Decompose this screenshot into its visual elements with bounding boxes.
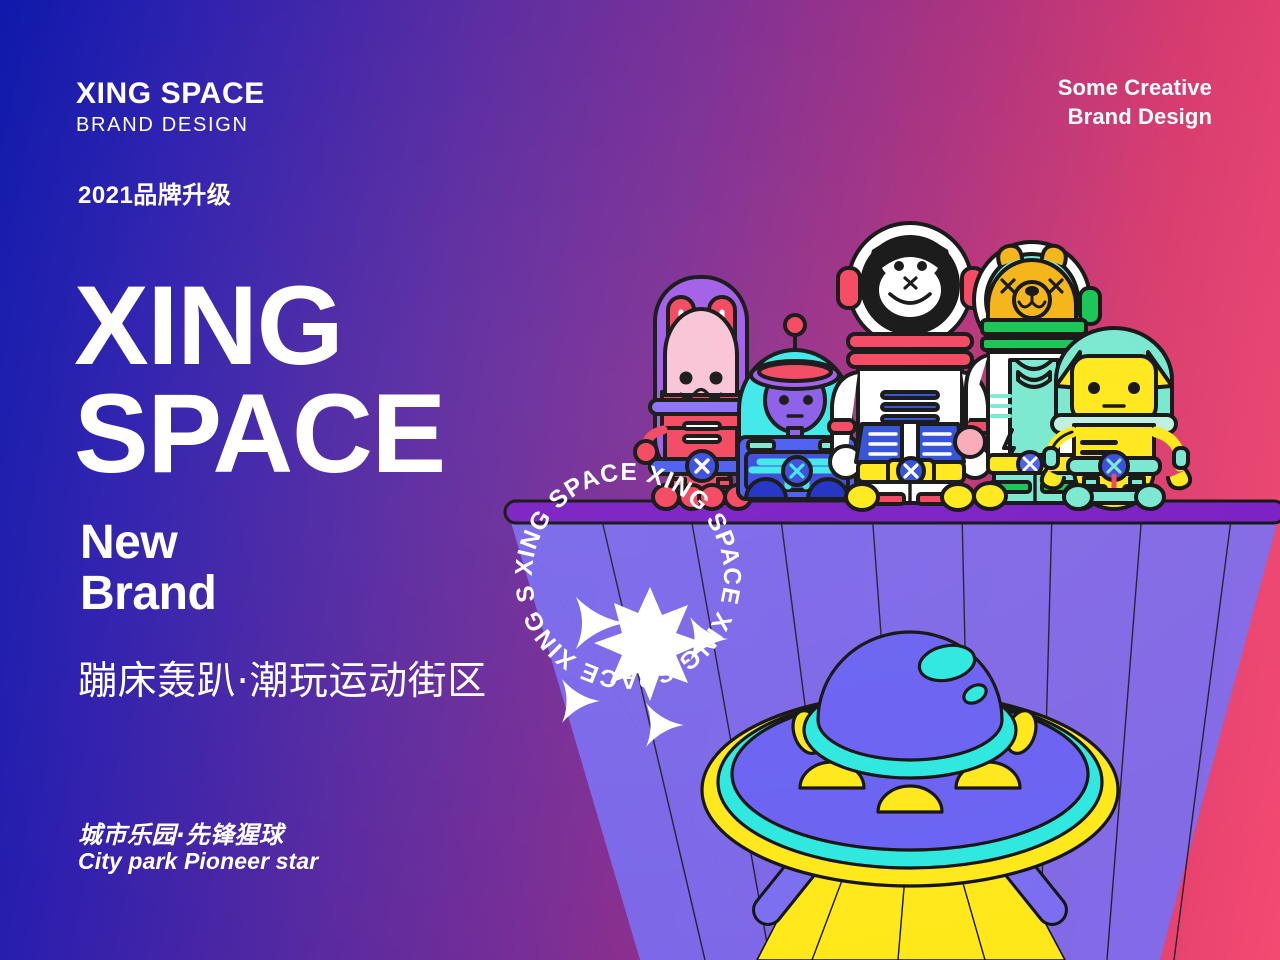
brand-wordmark: XING SPACE: [76, 78, 265, 110]
headline-line1: XING: [74, 272, 445, 380]
top-right-tagline: Some Creative Brand Design: [1058, 74, 1212, 131]
subhead-line1: New: [80, 518, 216, 569]
year-tag: 2021品牌升级: [78, 175, 231, 210]
poster-canvas: XING SPACE XING SPACE XING SPACE XING SP…: [0, 0, 1280, 960]
brand-subtitle: BRAND DESIGN: [76, 114, 249, 137]
top-right-line1: Some Creative: [1058, 74, 1212, 103]
character-cat-astronaut: [1042, 328, 1190, 509]
character-monkey-astronaut: [829, 223, 991, 510]
footer-chinese: 城市乐园·先锋猩球: [78, 815, 283, 850]
headline-line2: SPACE: [74, 380, 445, 488]
top-right-line2: Brand Design: [1058, 103, 1212, 132]
tagline-chinese: 蹦床轰趴·潮玩运动街区: [78, 650, 487, 706]
footer-english: City park Pioneer star: [78, 848, 318, 875]
subheadline: New Brand: [80, 518, 216, 620]
page-title: XING SPACE: [74, 272, 445, 487]
subhead-line2: Brand: [80, 569, 216, 620]
